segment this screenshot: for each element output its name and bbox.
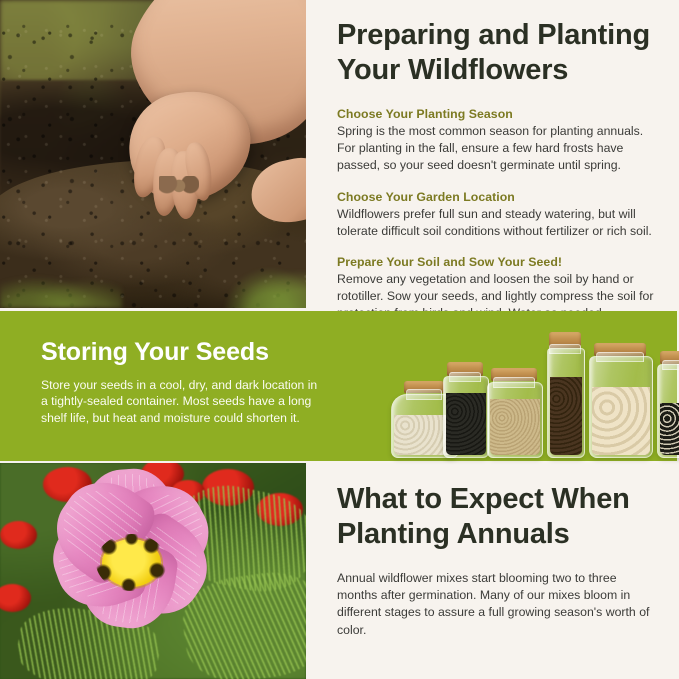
planting-season-subheading: Choose Your Planting Season [337, 106, 659, 122]
jar-contents [660, 403, 679, 455]
jar-contents [550, 377, 582, 455]
cosmos-bloom [12, 474, 251, 664]
jar-contents [592, 387, 650, 455]
what-to-expect-panel: What to Expect When Planting Annuals Ann… [337, 482, 655, 639]
jar-glass [657, 364, 679, 458]
planting-season-block: Choose Your Planting Season Spring is th… [337, 106, 659, 175]
preparing-planting-heading: Preparing and Planting Your Wildflowers [337, 18, 659, 88]
grass-blur-right [208, 253, 306, 308]
what-to-expect-heading: What to Expect When Planting Annuals [337, 482, 655, 552]
infographic-page: Preparing and Planting Your Wildflowers … [0, 0, 679, 679]
jar-contents [490, 399, 540, 455]
preparing-planting-panel: Preparing and Planting Your Wildflowers … [337, 18, 659, 323]
hand-sowing-seeds-photo [0, 0, 306, 308]
garden-location-body: Wildflowers prefer full sun and steady w… [337, 206, 659, 240]
flower-center [102, 539, 162, 587]
jar-glass [443, 376, 489, 458]
jar-tan-grain [487, 356, 541, 458]
jar-glass [589, 356, 653, 458]
jar-mixed-seeds [657, 346, 679, 458]
jar-contents [446, 393, 486, 455]
storing-seeds-body: Store your seeds in a cool, dry, and dar… [41, 377, 321, 426]
jar-glass [487, 382, 543, 458]
prepare-soil-subheading: Prepare Your Soil and Sow Your Seed! [337, 254, 659, 270]
seeds-in-palm [159, 176, 199, 194]
seed-jars-photo [385, 328, 675, 458]
jar-brown-seeds [547, 330, 583, 458]
planting-season-body: Spring is the most common season for pla… [337, 123, 659, 175]
garden-location-subheading: Choose Your Garden Location [337, 189, 659, 205]
what-to-expect-body: Annual wildflower mixes start blooming t… [337, 570, 655, 639]
grass-blur-left [0, 265, 122, 308]
storing-seeds-copy: Storing Your Seeds Store your seeds in a… [41, 338, 321, 426]
pink-cosmos-flower-photo [0, 463, 306, 679]
jar-black-seeds [443, 358, 487, 458]
storing-seeds-heading: Storing Your Seeds [41, 338, 321, 367]
jar-glass [547, 348, 585, 458]
garden-location-block: Choose Your Garden Location Wildflowers … [337, 189, 659, 240]
jar-pumpkin-seeds [589, 336, 651, 458]
